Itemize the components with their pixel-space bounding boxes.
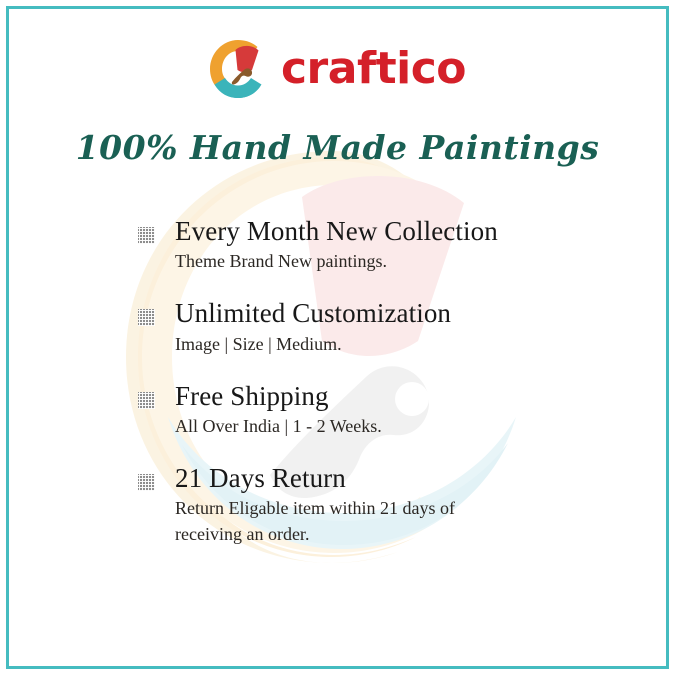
grid-square-bullet-icon bbox=[138, 392, 155, 409]
feature-title: Free Shipping bbox=[175, 381, 606, 411]
grid-square-bullet-icon bbox=[138, 474, 155, 491]
feature-subtitle: All Over India | 1 - 2 Weeks. bbox=[175, 413, 505, 439]
craftico-logo-icon bbox=[209, 38, 267, 98]
feature-subtitle: Return Eligable item within 21 days of r… bbox=[175, 495, 505, 547]
feature-subtitle: Theme Brand New paintings. bbox=[175, 248, 505, 274]
feature-title: 21 Days Return bbox=[175, 463, 606, 493]
brand-header: craftico bbox=[0, 33, 675, 103]
list-item: 21 Days Return Return Eligable item with… bbox=[136, 463, 606, 547]
brand-wordmark: craftico bbox=[281, 47, 466, 91]
grid-square-bullet-icon bbox=[138, 227, 155, 244]
feature-title: Every Month New Collection bbox=[175, 216, 606, 246]
tagline: 100% Hand Made Paintings bbox=[0, 128, 675, 167]
feature-list: Every Month New Collection Theme Brand N… bbox=[136, 216, 606, 547]
feature-subtitle: Image | Size | Medium. bbox=[175, 331, 505, 357]
list-item: Unlimited Customization Image | Size | M… bbox=[136, 298, 606, 356]
list-item: Free Shipping All Over India | 1 - 2 Wee… bbox=[136, 381, 606, 439]
grid-square-bullet-icon bbox=[138, 309, 155, 326]
feature-title: Unlimited Customization bbox=[175, 298, 606, 328]
list-item: Every Month New Collection Theme Brand N… bbox=[136, 216, 606, 274]
promo-poster: craftico 100% Hand Made Paintings Every … bbox=[0, 0, 675, 675]
